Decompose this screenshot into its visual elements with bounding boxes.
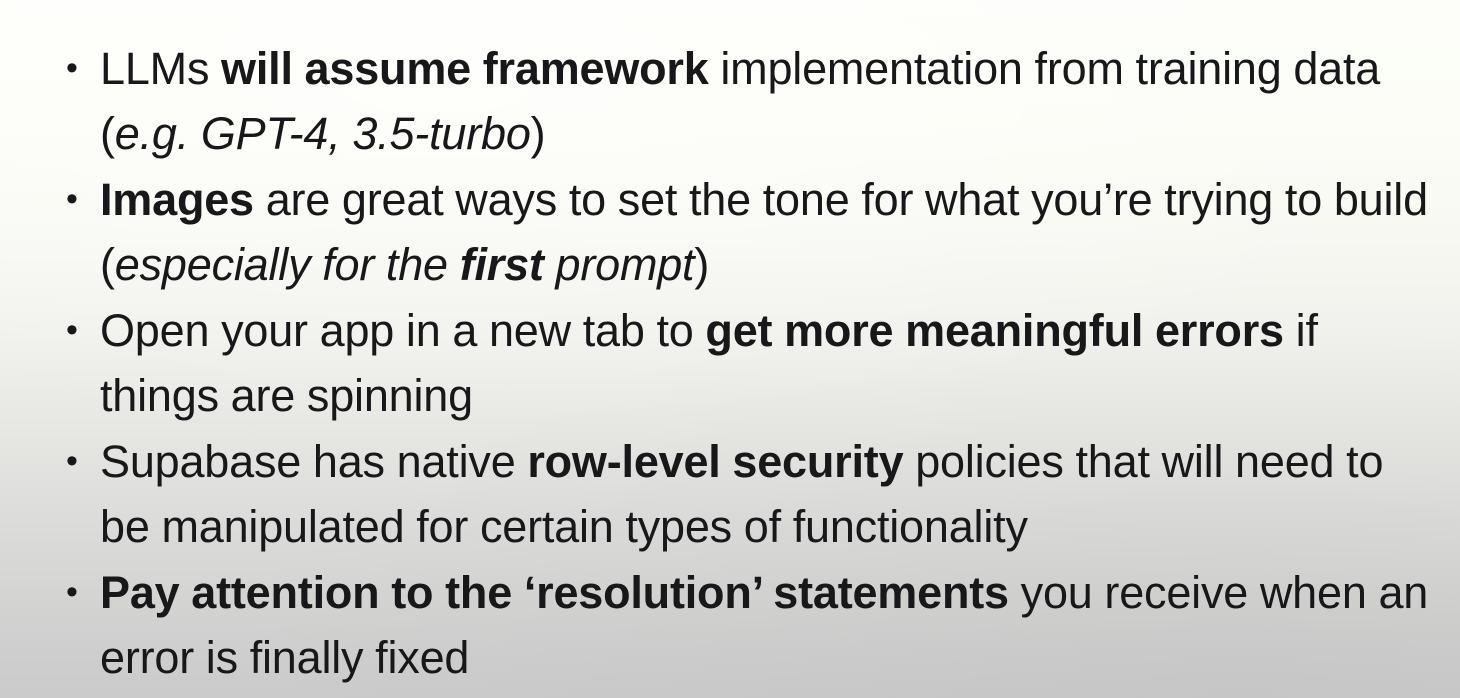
- list-item: • Supabase has native row-level security…: [0, 429, 1460, 559]
- bullet-text-resolution-statements: Pay attention to the ‘resolution’ statem…: [100, 560, 1436, 690]
- run-text-bold: get more meaningful errors: [705, 305, 1283, 356]
- run-text-italic: especially for the: [115, 239, 460, 290]
- bullet-point-icon: •: [66, 167, 80, 232]
- run-text-italic: e.g. GPT-4, 3.5-turbo: [115, 108, 531, 159]
- list-item: • LLMs will assume framework implementat…: [0, 36, 1460, 166]
- run-text: ): [694, 239, 709, 290]
- run-text: LLMs: [100, 43, 221, 94]
- run-text-bold: Images: [100, 174, 254, 225]
- bullet-list: • LLMs will assume framework implementat…: [0, 0, 1460, 690]
- list-item: • Images are great ways to set the tone …: [0, 167, 1460, 297]
- slide-canvas: • LLMs will assume framework implementat…: [0, 0, 1460, 698]
- bullet-text-open-new-tab: Open your app in a new tab to get more m…: [100, 298, 1436, 428]
- bullet-text-images-set-tone: Images are great ways to set the tone fo…: [100, 167, 1436, 297]
- run-text-bold: Pay attention to the ‘resolution’ statem…: [100, 567, 1009, 618]
- run-text: Supabase has native: [100, 436, 527, 487]
- bullet-point-icon: •: [66, 429, 80, 494]
- run-text-bold: row-level security: [527, 436, 903, 487]
- bullet-point-icon: •: [66, 36, 80, 101]
- run-text-bold: will assume framework: [221, 43, 709, 94]
- bullet-point-icon: •: [66, 560, 80, 625]
- list-item: • Pay attention to the ‘resolution’ stat…: [0, 560, 1460, 690]
- bullet-point-icon: •: [66, 298, 80, 363]
- run-text-bold-italic: first: [460, 239, 544, 290]
- bullet-text-llms-assume-framework: LLMs will assume framework implementatio…: [100, 36, 1436, 166]
- run-text: Open your app in a new tab to: [100, 305, 705, 356]
- run-text: ): [531, 108, 546, 159]
- bullet-text-supabase-rls: Supabase has native row-level security p…: [100, 429, 1436, 559]
- list-item: • Open your app in a new tab to get more…: [0, 298, 1460, 428]
- run-text-italic: prompt: [544, 239, 695, 290]
